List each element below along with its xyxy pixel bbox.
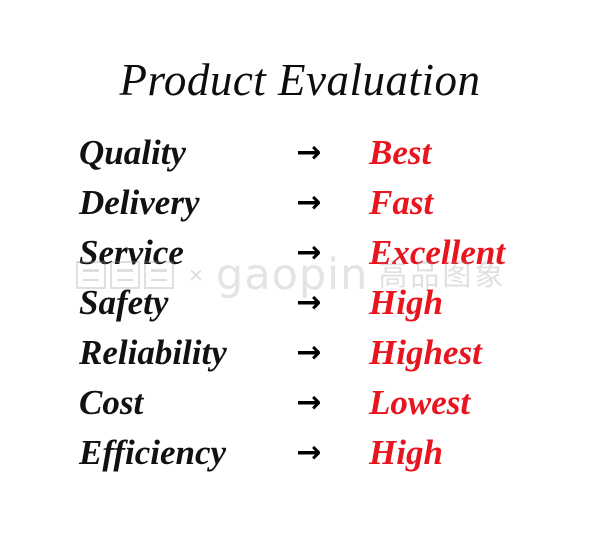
arrow-right-icon: → xyxy=(286,328,332,378)
criterion-value: High xyxy=(369,278,443,328)
criterion-value: Lowest xyxy=(369,378,470,428)
list-item: Delivery → Fast xyxy=(0,178,600,228)
arrow-right-icon: → xyxy=(286,228,332,278)
criterion-value: High xyxy=(369,428,443,478)
criterion-value: Best xyxy=(369,128,431,178)
list-item: Quality → Best xyxy=(0,128,600,178)
criterion-label: Cost xyxy=(79,378,143,428)
list-item: Safety → High xyxy=(0,278,600,328)
criterion-value: Highest xyxy=(369,328,482,378)
evaluation-list: Quality → Best Delivery → Fast Service →… xyxy=(0,128,600,478)
criterion-label: Reliability xyxy=(79,328,227,378)
page-title: Product Evaluation xyxy=(0,54,600,106)
list-item: Cost → Lowest xyxy=(0,378,600,428)
list-item: Efficiency → High xyxy=(0,428,600,478)
arrow-right-icon: → xyxy=(286,128,332,178)
criterion-value: Excellent xyxy=(369,228,505,278)
criterion-label: Service xyxy=(79,228,184,278)
criterion-label: Efficiency xyxy=(79,428,226,478)
arrow-right-icon: → xyxy=(286,378,332,428)
list-item: Reliability → Highest xyxy=(0,328,600,378)
list-item: Service → Excellent xyxy=(0,228,600,278)
criterion-label: Safety xyxy=(79,278,168,328)
evaluation-graphic: Product Evaluation Quality → Best Delive… xyxy=(0,0,600,548)
arrow-right-icon: → xyxy=(286,178,332,228)
criterion-label: Delivery xyxy=(79,178,199,228)
criterion-value: Fast xyxy=(369,178,433,228)
arrow-right-icon: → xyxy=(286,278,332,328)
criterion-label: Quality xyxy=(79,128,186,178)
arrow-right-icon: → xyxy=(286,428,332,478)
